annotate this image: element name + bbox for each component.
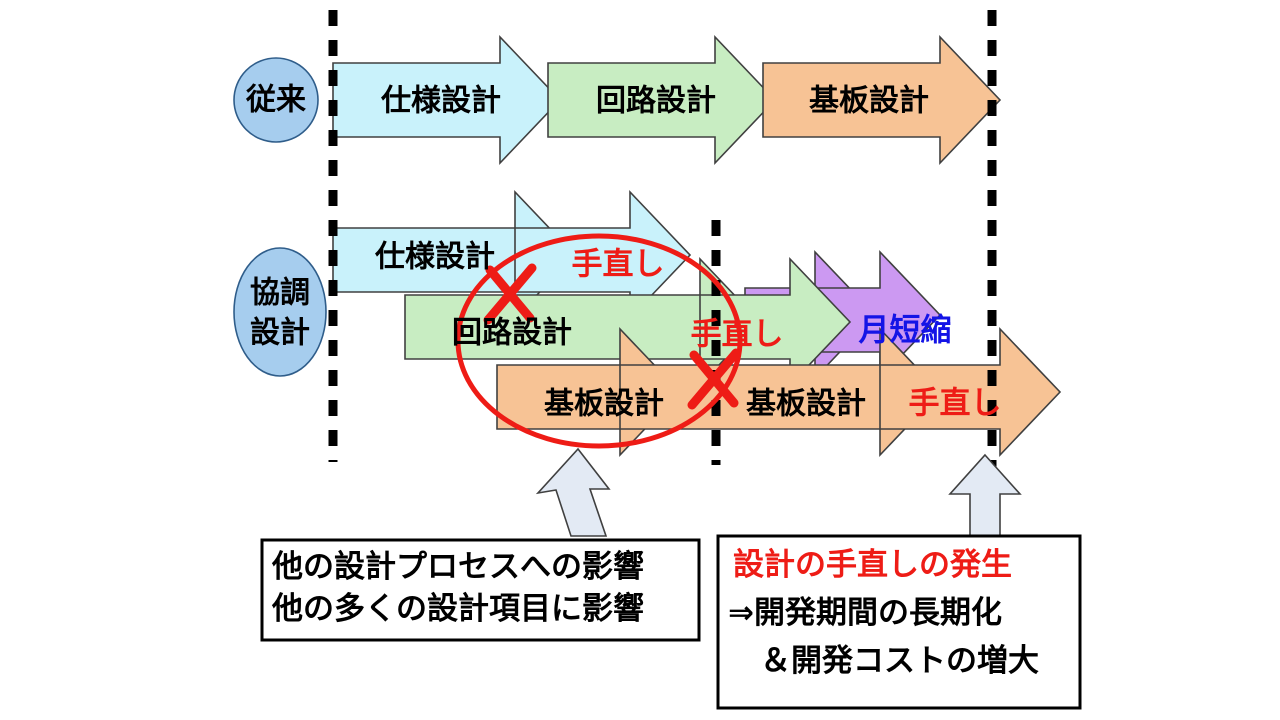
- consequence-box: [718, 536, 1080, 708]
- up-arrow-straight-icon: [950, 455, 1020, 536]
- row-conventional-badge-ellipse: [234, 58, 318, 142]
- row-concurrent-badge-ellipse: [234, 248, 326, 376]
- diagram-canvas: 従来 仕様設計 回路設計 基板設計 協調 設計 仕様設計 回路設計 基板設計 基…: [0, 0, 1280, 720]
- row-conventional-stage-spec-arrow: [333, 37, 560, 163]
- row-conventional-stage-board-arrow: [763, 37, 1000, 163]
- process-comparison-diagram: [0, 0, 1280, 720]
- row-conventional-stage-circuit-arrow: [548, 37, 775, 163]
- impact-box: [262, 540, 699, 640]
- up-arrow-tilted-icon: [538, 449, 609, 536]
